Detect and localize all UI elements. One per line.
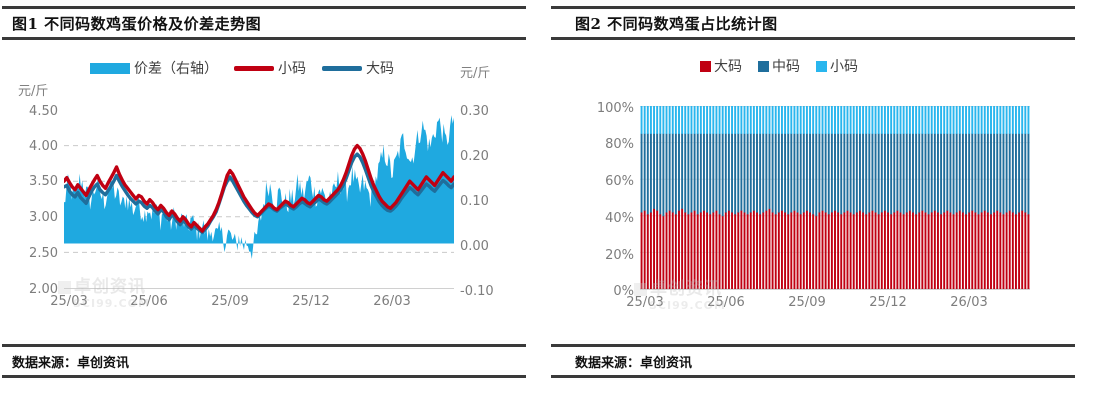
- bar-segment: [731, 212, 733, 289]
- bar-segment: [790, 133, 792, 212]
- small-size-swatch-icon-2: [816, 61, 827, 72]
- bar-segment: [659, 214, 661, 289]
- bar-segment: [784, 212, 786, 289]
- bar-segment: [765, 106, 767, 134]
- bar-segment: [984, 133, 986, 210]
- figure-2-ytick-80: 80%: [584, 137, 634, 152]
- bar-segment: [803, 212, 805, 289]
- bar-segment: [928, 214, 930, 289]
- bar-segment: [875, 106, 877, 134]
- bar-segment: [890, 106, 892, 134]
- bar-segment: [662, 216, 664, 289]
- bar-segment: [934, 106, 936, 134]
- bar-segment: [915, 133, 917, 214]
- bar-segment: [956, 133, 958, 212]
- bar-segment: [772, 133, 774, 212]
- bar-segment: [1021, 210, 1023, 289]
- bar-segment: [722, 216, 724, 289]
- bar-segment: [806, 210, 808, 289]
- bar-segment: [825, 212, 827, 289]
- bar-segment: [775, 133, 777, 214]
- bar-segment: [669, 106, 671, 134]
- bar-segment: [647, 133, 649, 214]
- bar-segment: [968, 133, 970, 212]
- bar-segment: [712, 133, 714, 212]
- figure-2-source: 数据来源：卓创资讯: [551, 352, 692, 371]
- bar-segment: [744, 106, 746, 134]
- bar-segment: [687, 133, 689, 214]
- bar-segment: [862, 212, 864, 289]
- bar-segment: [769, 106, 771, 134]
- bar-segment: [868, 212, 870, 289]
- bar-segment: [912, 133, 914, 212]
- bar-segment: [815, 133, 817, 216]
- bar-segment: [974, 106, 976, 134]
- bar-segment: [815, 106, 817, 134]
- bar-segment: [653, 106, 655, 134]
- bar-segment: [921, 210, 923, 289]
- bar-segment: [641, 106, 643, 134]
- bar-segment: [731, 133, 733, 212]
- bar-segment: [659, 106, 661, 134]
- bar-segment: [700, 133, 702, 212]
- bar-segment: [853, 214, 855, 289]
- bar-segment: [996, 133, 998, 210]
- figure-2-svg: [640, 106, 1030, 289]
- bar-segment: [840, 106, 842, 134]
- bar-segment: [778, 212, 780, 289]
- bar-segment: [887, 106, 889, 134]
- bar-segment: [993, 212, 995, 289]
- bar-segment: [868, 133, 870, 212]
- bar-segment: [949, 133, 951, 212]
- bar-segment: [653, 133, 655, 208]
- bar-segment: [940, 214, 942, 289]
- bar-segment: [797, 106, 799, 134]
- bar-segment: [641, 133, 643, 212]
- bar-segment: [871, 133, 873, 210]
- bar-segment: [981, 106, 983, 134]
- bar-segment: [1012, 212, 1014, 289]
- bar-segment: [953, 214, 955, 289]
- bar-segment: [871, 210, 873, 289]
- bar-segment: [734, 214, 736, 289]
- bar-segment: [850, 106, 852, 134]
- bar-segment: [918, 106, 920, 134]
- bar-segment: [812, 214, 814, 289]
- bar-segment: [875, 133, 877, 212]
- bar-segment: [825, 133, 827, 212]
- bar-segment: [834, 210, 836, 289]
- bar-segment: [731, 106, 733, 134]
- bar-segment: [928, 106, 930, 134]
- bar-segment: [878, 106, 880, 134]
- figure-1-footer-bar: 数据来源：卓创资讯: [2, 344, 526, 378]
- bar-segment: [956, 212, 958, 289]
- bar-segment: [921, 133, 923, 210]
- bar-segment: [906, 133, 908, 212]
- bar-segment: [822, 133, 824, 210]
- bar-segment: [981, 212, 983, 289]
- bar-segment: [744, 133, 746, 212]
- bar-segment: [762, 106, 764, 134]
- bar-segment: [712, 212, 714, 289]
- bar-segment: [1021, 106, 1023, 134]
- bar-segment: [728, 210, 730, 289]
- bar-segment: [843, 106, 845, 134]
- legend-item-medium-size[interactable]: 中码: [758, 56, 800, 76]
- bar-segment: [753, 133, 755, 210]
- bar-segment: [769, 133, 771, 208]
- bar-segment: [703, 133, 705, 210]
- bar-segment: [1006, 212, 1008, 289]
- bar-segment: [949, 106, 951, 134]
- bar-segment: [856, 133, 858, 212]
- bar-segment: [790, 106, 792, 134]
- figure-2-xtick-3: 25/12: [853, 295, 923, 310]
- bar-segment: [984, 210, 986, 289]
- bar-segment: [806, 106, 808, 134]
- figure-2-footer-bar: 数据来源：卓创资讯: [551, 344, 1075, 378]
- bar-segment: [946, 106, 948, 134]
- bar-segment: [800, 133, 802, 214]
- bar-segment: [803, 106, 805, 134]
- bar-segment: [659, 133, 661, 214]
- bar-segment: [865, 133, 867, 214]
- bar-segment: [884, 210, 886, 289]
- bar-segment: [971, 210, 973, 289]
- bar-segment: [700, 106, 702, 134]
- figure-2-x-axis: [640, 289, 1030, 290]
- bar-segment: [903, 133, 905, 214]
- bar-segment: [694, 133, 696, 210]
- figure-2-ytick-20: 20%: [584, 248, 634, 263]
- bar-segment: [909, 133, 911, 210]
- bar-segment: [687, 106, 689, 134]
- bar-segment: [737, 133, 739, 212]
- legend-label-medium-size: 中码: [772, 56, 800, 76]
- bar-segment: [769, 208, 771, 289]
- figure-2-chart: 大码 中码 小码 100% 80% 60% 40% 20% 0%: [0, 44, 1098, 340]
- figure-2-ytick-100: 100%: [584, 101, 634, 116]
- bar-segment: [881, 212, 883, 289]
- bar-segment: [719, 214, 721, 289]
- bar-segment: [1018, 133, 1020, 212]
- bar-segment: [996, 106, 998, 134]
- bar-segment: [641, 212, 643, 289]
- bar-segment: [890, 133, 892, 214]
- bar-segment: [940, 133, 942, 214]
- bar-segment: [925, 212, 927, 289]
- bar-segment: [765, 133, 767, 210]
- bar-segment: [999, 212, 1001, 289]
- bar-segment: [800, 214, 802, 289]
- bar-segment: [875, 212, 877, 289]
- bar-segment: [946, 133, 948, 210]
- bar-segment: [747, 133, 749, 214]
- bar-segment: [909, 210, 911, 289]
- bar-segment: [715, 133, 717, 210]
- bar-segment: [843, 212, 845, 289]
- bar-segment: [953, 133, 955, 214]
- bar-segment: [881, 106, 883, 134]
- bar-segment: [734, 106, 736, 134]
- bar-segment: [856, 212, 858, 289]
- bar-segment: [697, 133, 699, 214]
- bar-segment: [747, 214, 749, 289]
- bar-segment: [678, 106, 680, 134]
- bar-segment: [909, 106, 911, 134]
- bar-segment: [706, 106, 708, 134]
- bar-segment: [787, 214, 789, 289]
- bar-segment: [978, 133, 980, 214]
- bar-segment: [837, 106, 839, 134]
- bar-segment: [943, 106, 945, 134]
- bar-segment: [965, 214, 967, 289]
- bar-segment: [871, 106, 873, 134]
- bar-segment: [893, 212, 895, 289]
- bar-segment: [765, 210, 767, 289]
- bar-segment: [990, 133, 992, 214]
- bar-segment: [918, 133, 920, 212]
- bar-segment: [784, 106, 786, 134]
- bar-segment: [868, 106, 870, 134]
- bar-segment: [837, 212, 839, 289]
- bar-segment: [912, 212, 914, 289]
- bar-segment: [1009, 106, 1011, 134]
- bar-segment: [809, 212, 811, 289]
- bar-segment: [818, 106, 820, 134]
- bar-segment: [650, 212, 652, 289]
- bar-segment: [800, 106, 802, 134]
- bar-segment: [781, 210, 783, 289]
- bar-segment: [847, 210, 849, 289]
- bar-segment: [650, 106, 652, 134]
- bar-segment: [990, 214, 992, 289]
- bar-segment: [793, 210, 795, 289]
- bar-segment: [719, 106, 721, 134]
- report-page: 图1 不同码数鸡蛋价格及价差走势图 价差（右轴） 小码 大码 元/斤: [0, 0, 1098, 402]
- bar-segment: [974, 133, 976, 212]
- bar-segment: [759, 106, 761, 134]
- bar-segment: [687, 214, 689, 289]
- bar-segment: [859, 133, 861, 210]
- bar-segment: [793, 133, 795, 210]
- bar-segment: [890, 214, 892, 289]
- bar-segment: [853, 106, 855, 134]
- bar-segment: [700, 212, 702, 289]
- bar-segment: [959, 210, 961, 289]
- bar-segment: [647, 106, 649, 134]
- bar-segment: [775, 106, 777, 134]
- bar-segment: [706, 133, 708, 212]
- bar-segment: [715, 106, 717, 134]
- bar-segment: [893, 133, 895, 212]
- bar-segment: [946, 210, 948, 289]
- bar-segment: [818, 133, 820, 212]
- bar-segment: [859, 210, 861, 289]
- bar-segment: [937, 133, 939, 212]
- bar-segment: [1015, 133, 1017, 214]
- legend-label-large-size-2: 大码: [714, 56, 742, 76]
- bar-segment: [1024, 133, 1026, 212]
- bar-segment: [1006, 106, 1008, 134]
- bar-segment: [959, 133, 961, 210]
- bar-segment: [672, 106, 674, 134]
- bar-segment: [971, 133, 973, 210]
- bar-segment: [809, 106, 811, 134]
- bar-segment: [906, 212, 908, 289]
- legend-item-small-size-2[interactable]: 小码: [816, 56, 858, 76]
- bar-segment: [856, 106, 858, 134]
- bar-segment: [1015, 214, 1017, 289]
- bar-segment: [1012, 106, 1014, 134]
- bar-segment: [859, 106, 861, 134]
- bar-segment: [1027, 133, 1029, 214]
- bar-segment: [822, 106, 824, 134]
- bar-segment: [881, 133, 883, 212]
- bar-segment: [737, 106, 739, 134]
- figure-2-title: 图2 不同码数鸡蛋占比统计图: [551, 13, 778, 34]
- bar-segment: [666, 106, 668, 134]
- bar-segment: [778, 106, 780, 134]
- bar-segment: [915, 106, 917, 134]
- bar-segment: [843, 133, 845, 212]
- bar-segment: [831, 212, 833, 289]
- bar-segment: [762, 133, 764, 212]
- bar-segment: [784, 133, 786, 212]
- bar-segment: [828, 214, 830, 289]
- bar-segment: [850, 212, 852, 289]
- bar-segment: [1021, 133, 1023, 210]
- bar-segment: [978, 214, 980, 289]
- bar-segment: [921, 106, 923, 134]
- bar-segment: [734, 133, 736, 214]
- bar-segment: [669, 133, 671, 210]
- bar-segment: [684, 106, 686, 134]
- bar-segment: [750, 212, 752, 289]
- bar-segment: [815, 216, 817, 289]
- bar-segment: [834, 133, 836, 210]
- bar-segment: [725, 106, 727, 134]
- figure-1-title-bar: 图1 不同码数鸡蛋价格及价差走势图: [2, 6, 526, 40]
- bar-segment: [666, 133, 668, 212]
- bar-segment: [662, 106, 664, 134]
- bar-segment: [959, 106, 961, 134]
- figure-2-title-bar: 图2 不同码数鸡蛋占比统计图: [551, 6, 1075, 40]
- bar-segment: [1003, 133, 1005, 214]
- bar-segment: [703, 106, 705, 134]
- bar-segment: [681, 208, 683, 289]
- bar-segment: [928, 133, 930, 214]
- bar-segment: [825, 106, 827, 134]
- bar-segment: [728, 133, 730, 210]
- bar-segment: [850, 133, 852, 212]
- bar-segment: [940, 106, 942, 134]
- legend-item-large-size-2[interactable]: 大码: [700, 56, 742, 76]
- bar-segment: [797, 133, 799, 212]
- bar-segment: [666, 212, 668, 289]
- bar-segment: [793, 106, 795, 134]
- figure-2-plot-area: [640, 106, 1030, 289]
- bar-segment: [778, 133, 780, 212]
- bar-segment: [828, 106, 830, 134]
- bar-segment: [656, 106, 658, 134]
- figure-2-legend: 大码 中码 小码: [700, 56, 858, 76]
- bar-segment: [790, 212, 792, 289]
- bar-segment: [812, 106, 814, 134]
- bar-segment: [812, 133, 814, 214]
- bar-segment: [684, 133, 686, 212]
- bar-segment: [884, 133, 886, 210]
- bar-segment: [797, 212, 799, 289]
- figure-2-xtick-1: 25/06: [691, 295, 761, 310]
- bar-segment: [694, 106, 696, 134]
- bar-segment: [750, 106, 752, 134]
- bar-segment: [831, 133, 833, 212]
- bar-segment: [931, 212, 933, 289]
- bar-segment: [999, 133, 1001, 212]
- bar-segment: [965, 106, 967, 134]
- bar-segment: [681, 133, 683, 208]
- bar-segment: [931, 106, 933, 134]
- figure-2-xtick-4: 26/03: [934, 295, 1004, 310]
- bar-segment: [981, 133, 983, 212]
- bar-segment: [691, 212, 693, 289]
- figure-1-title: 图1 不同码数鸡蛋价格及价差走势图: [2, 13, 261, 34]
- bar-segment: [837, 133, 839, 212]
- medium-size-swatch-icon: [758, 61, 769, 72]
- bar-segment: [962, 212, 964, 289]
- bar-segment: [712, 106, 714, 134]
- bar-segment: [691, 133, 693, 212]
- bar-segment: [775, 214, 777, 289]
- bar-segment: [896, 210, 898, 289]
- bar-segment: [900, 133, 902, 212]
- bar-segment: [984, 106, 986, 134]
- bar-segment: [744, 212, 746, 289]
- bar-segment: [740, 106, 742, 134]
- bar-segment: [934, 210, 936, 289]
- bar-segment: [1024, 212, 1026, 289]
- bar-segment: [987, 133, 989, 212]
- figure-2-ytick-60: 60%: [584, 174, 634, 189]
- bar-segment: [987, 212, 989, 289]
- bar-segment: [1018, 212, 1020, 289]
- bar-segment: [678, 210, 680, 289]
- bar-segment: [725, 212, 727, 289]
- bar-segment: [831, 106, 833, 134]
- bar-segment: [1027, 106, 1029, 134]
- bar-segment: [990, 106, 992, 134]
- bar-segment: [753, 106, 755, 134]
- bar-segment: [697, 214, 699, 289]
- bar-segment: [740, 133, 742, 210]
- bar-segment: [934, 133, 936, 210]
- bar-segment: [1009, 133, 1011, 210]
- bar-segment: [725, 133, 727, 212]
- bar-segment: [756, 106, 758, 134]
- bar-segment: [772, 106, 774, 134]
- bar-segment: [906, 106, 908, 134]
- bar-segment: [650, 133, 652, 212]
- bar-segment: [968, 106, 970, 134]
- bar-segment: [878, 133, 880, 214]
- bar-segment: [912, 106, 914, 134]
- figure-1-source: 数据来源：卓创资讯: [2, 352, 129, 371]
- bar-segment: [709, 133, 711, 214]
- bar-segment: [962, 133, 964, 212]
